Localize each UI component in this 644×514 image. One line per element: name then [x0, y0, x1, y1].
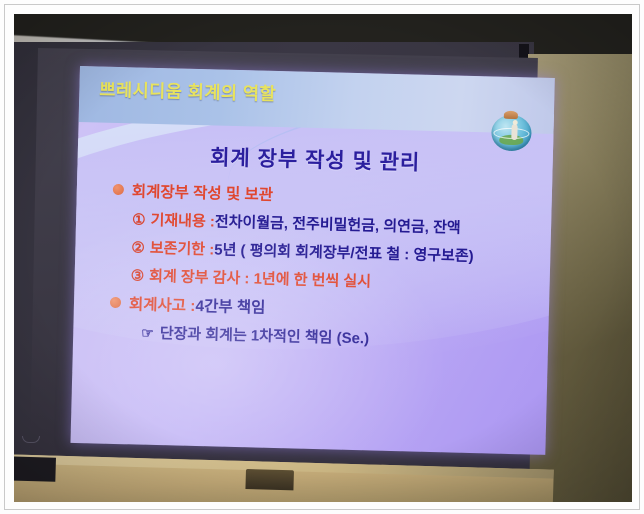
list-number-marker: ③ — [130, 266, 144, 284]
globe-figure-head — [513, 120, 518, 125]
slide-bullet-line: ②보존기한 : 5년 ( 평의회 회계장부/전표 철 : 영구보존) — [111, 236, 541, 268]
slide-text-segment: 4간부 책임 — [195, 294, 266, 318]
slide-body: 회계장부 작성 및 보관①기재내용 : 전차이월금, 전주비밀헌금, 의연금, … — [109, 179, 543, 360]
slide-text-segment: 회계사고 : — [129, 292, 196, 316]
photo-inner-border: 쁘레시디움 회계의 역할 회계 장부 작성 및 관리 회계장부 작성 및 보관①… — [4, 4, 640, 510]
presentation-slide: 쁘레시디움 회계의 역할 회계 장부 작성 및 관리 회계장부 작성 및 보관①… — [70, 66, 554, 455]
pointing-hand-icon: ☞ — [141, 325, 154, 342]
podium-left-object — [14, 456, 56, 482]
slide-bullet-line: ☞단장과 회계는 1차적인 책임 (Se.) — [109, 321, 539, 353]
slide-text-segment: 5년 ( 평의회 회계장부/전표 철 : 영구보존) — [214, 238, 474, 266]
slide-header-title: 쁘레시디움 회계의 역할 — [99, 77, 276, 106]
slide-text-segment: 기재내용 : — [150, 209, 215, 232]
slide-text-segment: 단장과 회계는 1차적인 책임 (Se.) — [160, 322, 370, 348]
slide-text-segment: 회계장부 작성 및 보관 — [132, 179, 274, 205]
slide-bullet-line: ①기재내용 : 전차이월금, 전주비밀헌금, 의연금, 잔액 — [112, 208, 542, 240]
slide-text-segment: 전차이월금, 전주비밀헌금, 의연금, 잔액 — [215, 210, 461, 237]
photo-frame: 쁘레시디움 회계의 역할 회계 장부 작성 및 관리 회계장부 작성 및 보관①… — [0, 0, 644, 514]
photograph: 쁘레시디움 회계의 역할 회계 장부 작성 및 관리 회계장부 작성 및 보관①… — [14, 14, 632, 502]
slide-header-band: 쁘레시디움 회계의 역할 — [79, 66, 555, 134]
slide-text-segment: 보존기한 : — [150, 237, 215, 260]
slide-bullet-line: 회계사고 : 4간부 책임 — [110, 292, 540, 325]
globe-figure-body — [511, 124, 517, 140]
globe-top-ornament — [504, 111, 518, 119]
podium-notch — [245, 469, 294, 490]
slide-bullet-line: ③회계 장부 감사 : 1년에 한 번씩 실시 — [110, 264, 540, 296]
list-number-marker: ② — [131, 238, 145, 256]
slide-text-segment: 회계 장부 감사 : 1년에 한 번씩 실시 — [149, 265, 371, 292]
bullet-dot-icon — [110, 297, 121, 308]
globe-emblem-icon — [491, 114, 532, 151]
bullet-dot-icon — [113, 184, 124, 195]
list-number-marker: ① — [132, 210, 146, 228]
